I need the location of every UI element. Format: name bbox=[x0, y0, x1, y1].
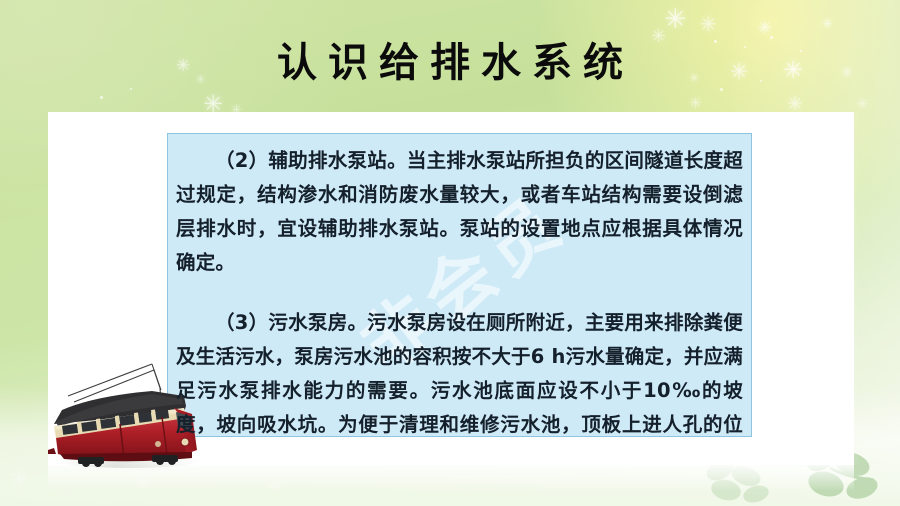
presentation-slide: ✳ ✳ ✳ ✳ ✳ ✳ ✳ ✳ ✳ ✳ ✳ ✳ ✳ ✳ ✳ ✳ ✳ ✳ ✳ ✳ … bbox=[0, 0, 900, 506]
page-title: 认识给排水系统 bbox=[0, 30, 900, 88]
dust-speck bbox=[100, 96, 103, 99]
dust-speck bbox=[130, 88, 132, 90]
paragraph-2: （2）辅助排水泵站。当主排水泵站所担负的区间隧道长度超过规定，结构渗水和消防废水… bbox=[176, 144, 743, 280]
content-textbox: 非会员 （2）辅助排水泵站。当主排水泵站所担负的区间隧道长度超过规定，结构渗水和… bbox=[167, 133, 752, 437]
content-panel-right-fade bbox=[790, 112, 860, 465]
content-textbox-body: （2）辅助排水泵站。当主排水泵站所担负的区间隧道长度超过规定，结构渗水和消防废水… bbox=[176, 144, 743, 437]
star-icon: ✳ bbox=[664, 6, 687, 33]
paragraph-3: （3）污水泵房。污水泵房设在厕所附近，主要用来排除粪便及生活污水，泵房污水池的容… bbox=[176, 306, 743, 437]
star-icon: ✳ bbox=[689, 96, 702, 111]
